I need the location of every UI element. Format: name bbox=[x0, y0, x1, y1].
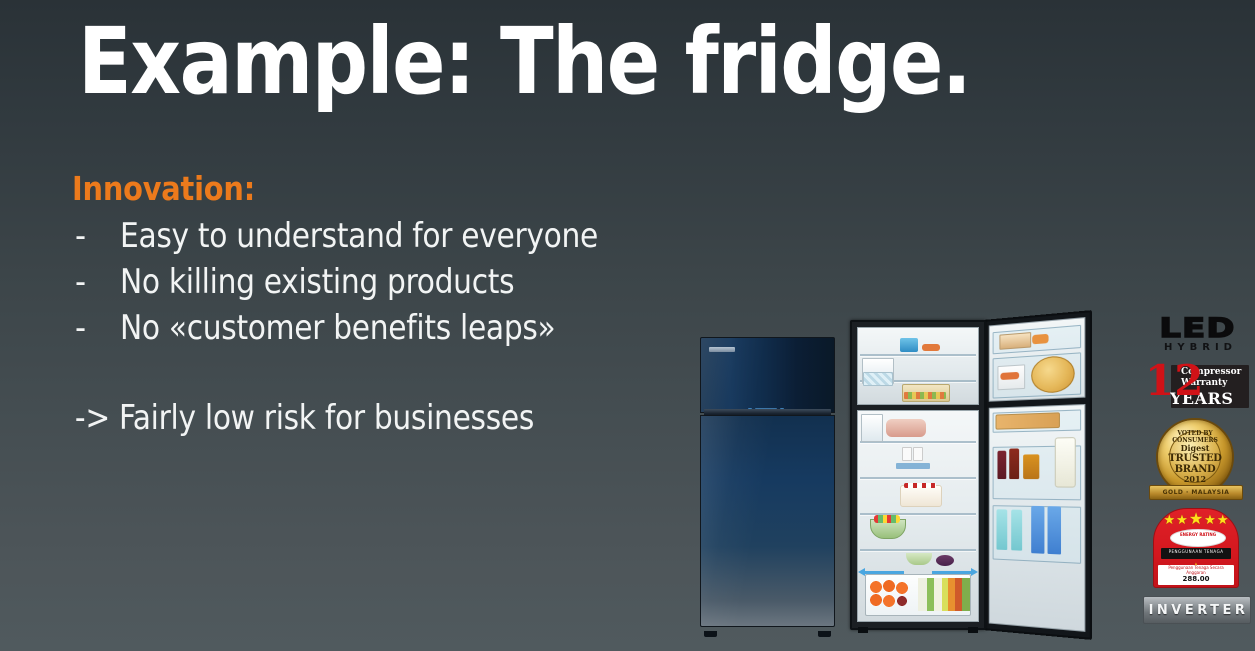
led-text: LED bbox=[1160, 316, 1236, 341]
slide-canvas: Example: The fridge. Innovation: - Easy … bbox=[0, 0, 1255, 651]
energy-footer-label: Penggunaan Tenaga Secara Anggaran bbox=[1158, 565, 1234, 575]
seal-inner: VOTED BY CONSUMERS Digest TRUSTED BRAND … bbox=[1169, 431, 1221, 483]
freezer-door bbox=[700, 337, 835, 413]
bullet-text: No «customer benefits leaps» bbox=[120, 305, 555, 351]
list-item: - No killing existing products bbox=[72, 259, 792, 305]
conclusion-text: -> Fairly low risk for businesses bbox=[72, 395, 770, 441]
fridge-door bbox=[700, 415, 835, 627]
seal-ribbon: GOLD · MALAYSIA bbox=[1149, 485, 1243, 500]
energy-oval: ENERGY RATING bbox=[1170, 529, 1226, 547]
seal-line1: TRUSTED bbox=[1168, 453, 1221, 464]
warranty-number: 12 bbox=[1145, 360, 1203, 402]
list-item: - Easy to understand for everyone bbox=[72, 213, 792, 259]
list-item: - No «customer benefits leaps» bbox=[72, 305, 792, 351]
bullet-text: No killing existing products bbox=[120, 259, 514, 305]
fruit-section bbox=[866, 575, 918, 615]
water-dispenser-icon bbox=[861, 414, 883, 442]
energy-footer-value: 288.00 bbox=[1158, 575, 1234, 583]
open-door-panel bbox=[983, 310, 1092, 640]
badge-led-hybrid: LED HYBRID bbox=[1143, 314, 1253, 354]
badge-compressor-warranty: 12 Compressor Warranty YEARS bbox=[1145, 362, 1249, 408]
seal-arc-text: VOTED BY CONSUMERS bbox=[1170, 430, 1220, 444]
content-block: Innovation: - Easy to understand for eve… bbox=[72, 168, 792, 441]
bullet-marker-icon: - bbox=[72, 213, 120, 259]
energy-footer: Penggunaan Tenaga Secara Anggaran 288.00 bbox=[1158, 565, 1234, 585]
star-rating-icons: ★★★★★ bbox=[1154, 514, 1238, 527]
fridge-cabinet bbox=[850, 320, 986, 630]
fresh-food-compartment bbox=[857, 410, 979, 622]
energy-black-bar-text: PENGGUNAAN TENAGA bbox=[1161, 548, 1231, 554]
bullet-marker-icon: - bbox=[72, 305, 120, 351]
inverter-label: INVERTER bbox=[1146, 603, 1249, 618]
open-fridge-image bbox=[850, 320, 1090, 635]
page-title: Example: The fridge. bbox=[78, 10, 970, 114]
bullet-text: Easy to understand for everyone bbox=[120, 213, 598, 259]
led-label-icon bbox=[896, 463, 930, 469]
badge-trusted-brand: VOTED BY CONSUMERS Digest TRUSTED BRAND … bbox=[1149, 418, 1243, 502]
freezer-compartment bbox=[857, 327, 979, 405]
crisper-drawer bbox=[865, 574, 971, 616]
fridge-foot bbox=[704, 631, 717, 637]
vegetable-section bbox=[918, 575, 970, 615]
seal-brand: Digest bbox=[1181, 444, 1210, 453]
badge-inverter: INVERTER bbox=[1143, 596, 1251, 624]
seal-year: 2012 bbox=[1184, 475, 1206, 484]
innovation-heading: Innovation: bbox=[72, 168, 770, 210]
feature-badges: LED HYBRID 12 Compressor Warranty YEARS … bbox=[1143, 314, 1253, 632]
fridge-foot bbox=[818, 631, 831, 637]
fridge-door-bins bbox=[989, 404, 1086, 632]
freezer-door-bins bbox=[989, 317, 1086, 402]
energy-oval-text: ENERGY RATING bbox=[1171, 530, 1225, 537]
toshiba-logo-icon bbox=[709, 347, 735, 352]
bullet-marker-icon: - bbox=[72, 259, 120, 305]
closed-fridge-image bbox=[700, 337, 835, 632]
badge-energy-rating: ★★★★★ ENERGY RATING PENGGUNAAN TENAGA ★5… bbox=[1153, 508, 1239, 588]
